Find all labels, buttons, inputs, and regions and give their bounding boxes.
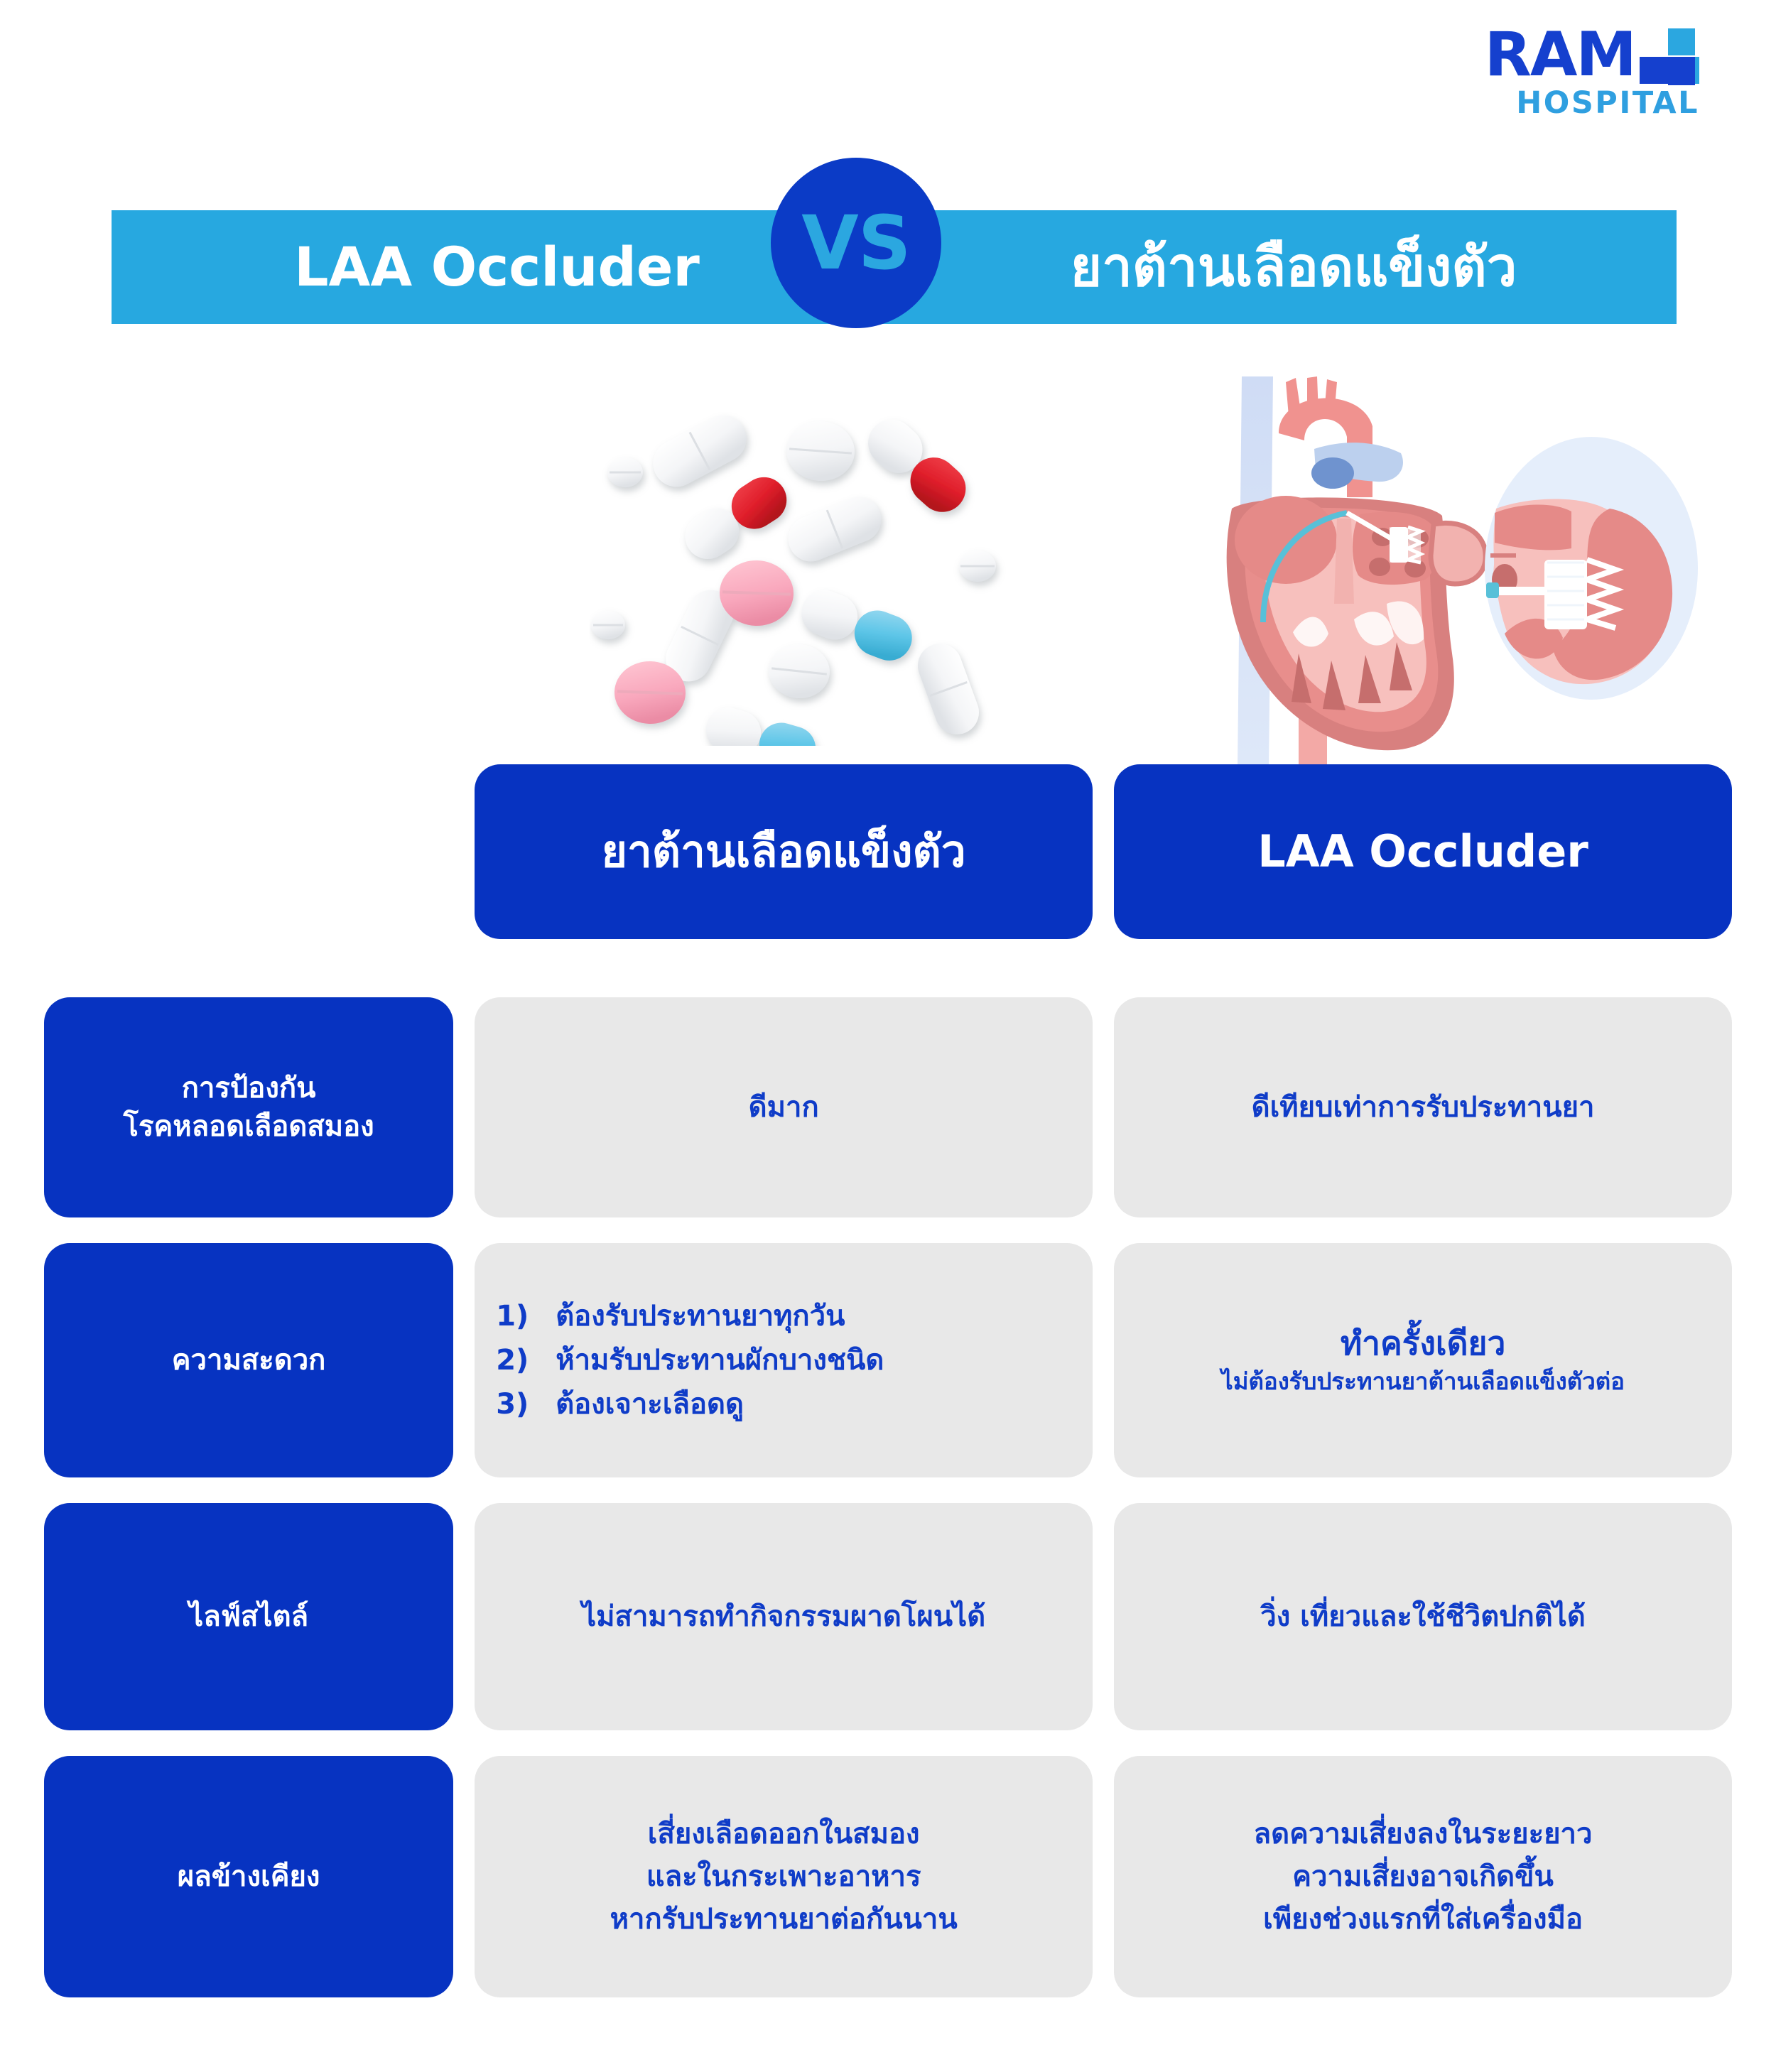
row-label-line-1: การป้องกัน — [124, 1069, 374, 1107]
list-item-label: ต้องรับประทานยาทุกวัน — [556, 1298, 845, 1335]
ram-hospital-logo: RAM HOSPITAL — [1485, 27, 1699, 121]
list-item: 2) ห้ามรับประทานผักบางชนิด — [496, 1342, 1071, 1379]
row-label-convenience: ความสะดวก — [44, 1243, 453, 1477]
medical-cross-icon — [1640, 28, 1699, 84]
table-row: ไลฟ์สไตล์ ไม่สามารถทำกิจกรรมผาดโผนได้ วิ… — [0, 1503, 1776, 1730]
column-header-device: LAA Occluder — [1114, 764, 1732, 939]
side-effect-line: เสี่ยงเลือดออกในสมอง — [648, 1813, 920, 1855]
cell-device-stroke-prevention: ดีเทียบเท่าการรับประทานยา — [1114, 997, 1732, 1217]
row-label-lifestyle: ไลฟ์สไตล์ — [44, 1503, 453, 1730]
cell-drug-side-effects: เสี่ยงเลือดออกในสมอง และในกระเพาะอาหาร ห… — [475, 1756, 1093, 1997]
pills-illustration — [590, 391, 1044, 746]
side-effect-line: เพียงช่วงแรกที่ใส่เครื่องมือ — [1263, 1898, 1583, 1941]
side-effect-line: หากรับประทานยาต่อกันนาน — [610, 1898, 958, 1941]
cell-device-convenience: ทำครั้งเดียว ไม่ต้องรับประทานยาต้านเลือด… — [1114, 1243, 1732, 1477]
list-item-label: ต้องเจาะเลือดดู — [556, 1386, 744, 1423]
comparison-table: ยาต้านเลือดแข็งตัว LAA Occluder การป้องก… — [0, 764, 1776, 2023]
row-label-line-2: โรคหลอดเลือดสมอง — [124, 1107, 374, 1146]
heart-laa-occluder-illustration — [1208, 369, 1705, 767]
cell-device-side-effects: ลดความเสี่ยงลงในระยะยาว ความเสี่ยงอาจเกิ… — [1114, 1756, 1732, 1997]
device-convenience-sub: ไม่ต้องรับประทานยาต้านเลือดแข็งตัวต่อ — [1221, 1367, 1625, 1397]
column-header-drug: ยาต้านเลือดแข็งตัว — [475, 764, 1093, 939]
row-label-side-effects: ผลข้างเคียง — [44, 1756, 453, 1997]
logo-subtitle: HOSPITAL — [1485, 85, 1699, 121]
header-corner-spacer — [44, 764, 453, 939]
vs-badge: VS — [771, 158, 941, 328]
logo-top-row: RAM — [1485, 27, 1699, 84]
cell-drug-stroke-prevention: ดีมาก — [475, 997, 1093, 1217]
table-row: ผลข้างเคียง เสี่ยงเลือดออกในสมอง และในกร… — [0, 1756, 1776, 1997]
list-item-number: 3) — [496, 1386, 556, 1423]
side-effect-line: ความเสี่ยงอาจเกิดขึ้น — [1292, 1855, 1554, 1898]
cell-device-lifestyle: วิ่ง เที่ยวและใช้ชีวิตปกติได้ — [1114, 1503, 1732, 1730]
banner-title-left: LAA Occluder — [112, 240, 882, 294]
table-header-row: ยาต้านเลือดแข็งตัว LAA Occluder — [0, 764, 1776, 939]
side-effect-line: ลดความเสี่ยงลงในระยะยาว — [1254, 1813, 1593, 1855]
illustration-area — [0, 369, 1776, 746]
list-item-label: ห้ามรับประทานผักบางชนิด — [556, 1342, 884, 1379]
banner-title-right: ยาต้านเลือดแข็งตัว — [911, 240, 1677, 294]
side-effect-line: และในกระเพาะอาหาร — [646, 1855, 921, 1898]
table-row: ความสะดวก 1) ต้องรับประทานยาทุกวัน 2) ห้… — [0, 1243, 1776, 1477]
list-item-number: 1) — [496, 1298, 556, 1335]
row-label-stroke-prevention: การป้องกัน โรคหลอดเลือดสมอง — [44, 997, 453, 1217]
cell-drug-convenience: 1) ต้องรับประทานยาทุกวัน 2) ห้ามรับประทา… — [475, 1243, 1093, 1477]
device-convenience-main: ทำครั้งเดียว — [1341, 1323, 1505, 1365]
logo-brand-text: RAM — [1485, 27, 1635, 83]
list-item: 1) ต้องรับประทานยาทุกวัน — [496, 1298, 1071, 1335]
list-item-number: 2) — [496, 1342, 556, 1379]
cell-drug-lifestyle: ไม่สามารถทำกิจกรรมผาดโผนได้ — [475, 1503, 1093, 1730]
table-row: การป้องกัน โรคหลอดเลือดสมอง ดีมาก ดีเทีย… — [0, 997, 1776, 1217]
convenience-list: 1) ต้องรับประทานยาทุกวัน 2) ห้ามรับประทา… — [496, 1298, 1071, 1423]
list-item: 3) ต้องเจาะเลือดดู — [496, 1386, 1071, 1423]
